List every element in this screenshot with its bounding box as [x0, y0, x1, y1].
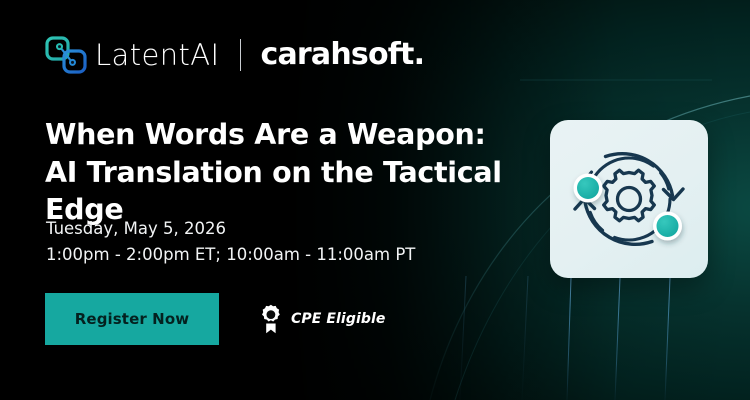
logo-lockup[interactable]: LatentAI carahsoft. [44, 31, 424, 79]
cta-row: Register Now CPE Eligible [45, 293, 385, 345]
award-rosette-icon [258, 304, 284, 334]
latentai-link-logo-icon [44, 33, 88, 77]
cpe-eligible-label: CPE Eligible [291, 311, 385, 327]
register-now-button[interactable]: Register Now [45, 293, 219, 345]
ai-translation-cycle-illustration [550, 120, 708, 278]
event-time: 1:00pm - 2:00pm ET; 10:00am - 11:00am PT [46, 242, 415, 268]
event-schedule: Tuesday, May 5, 2026 1:00pm - 2:00pm ET;… [46, 216, 415, 267]
event-date: Tuesday, May 5, 2026 [46, 216, 415, 242]
brand-wordmark: LatentAI [95, 41, 219, 70]
webinar-promo-banner: LatentAI carahsoft. When Words Are a Wea… [0, 0, 750, 400]
logo-divider [240, 39, 241, 71]
partner-wordmark: carahsoft. [260, 40, 424, 70]
cycle-gear-graphic [550, 120, 708, 278]
page-title: When Words Are a Weapon: AI Translation … [45, 116, 525, 229]
cpe-eligible-badge: CPE Eligible [258, 304, 385, 334]
